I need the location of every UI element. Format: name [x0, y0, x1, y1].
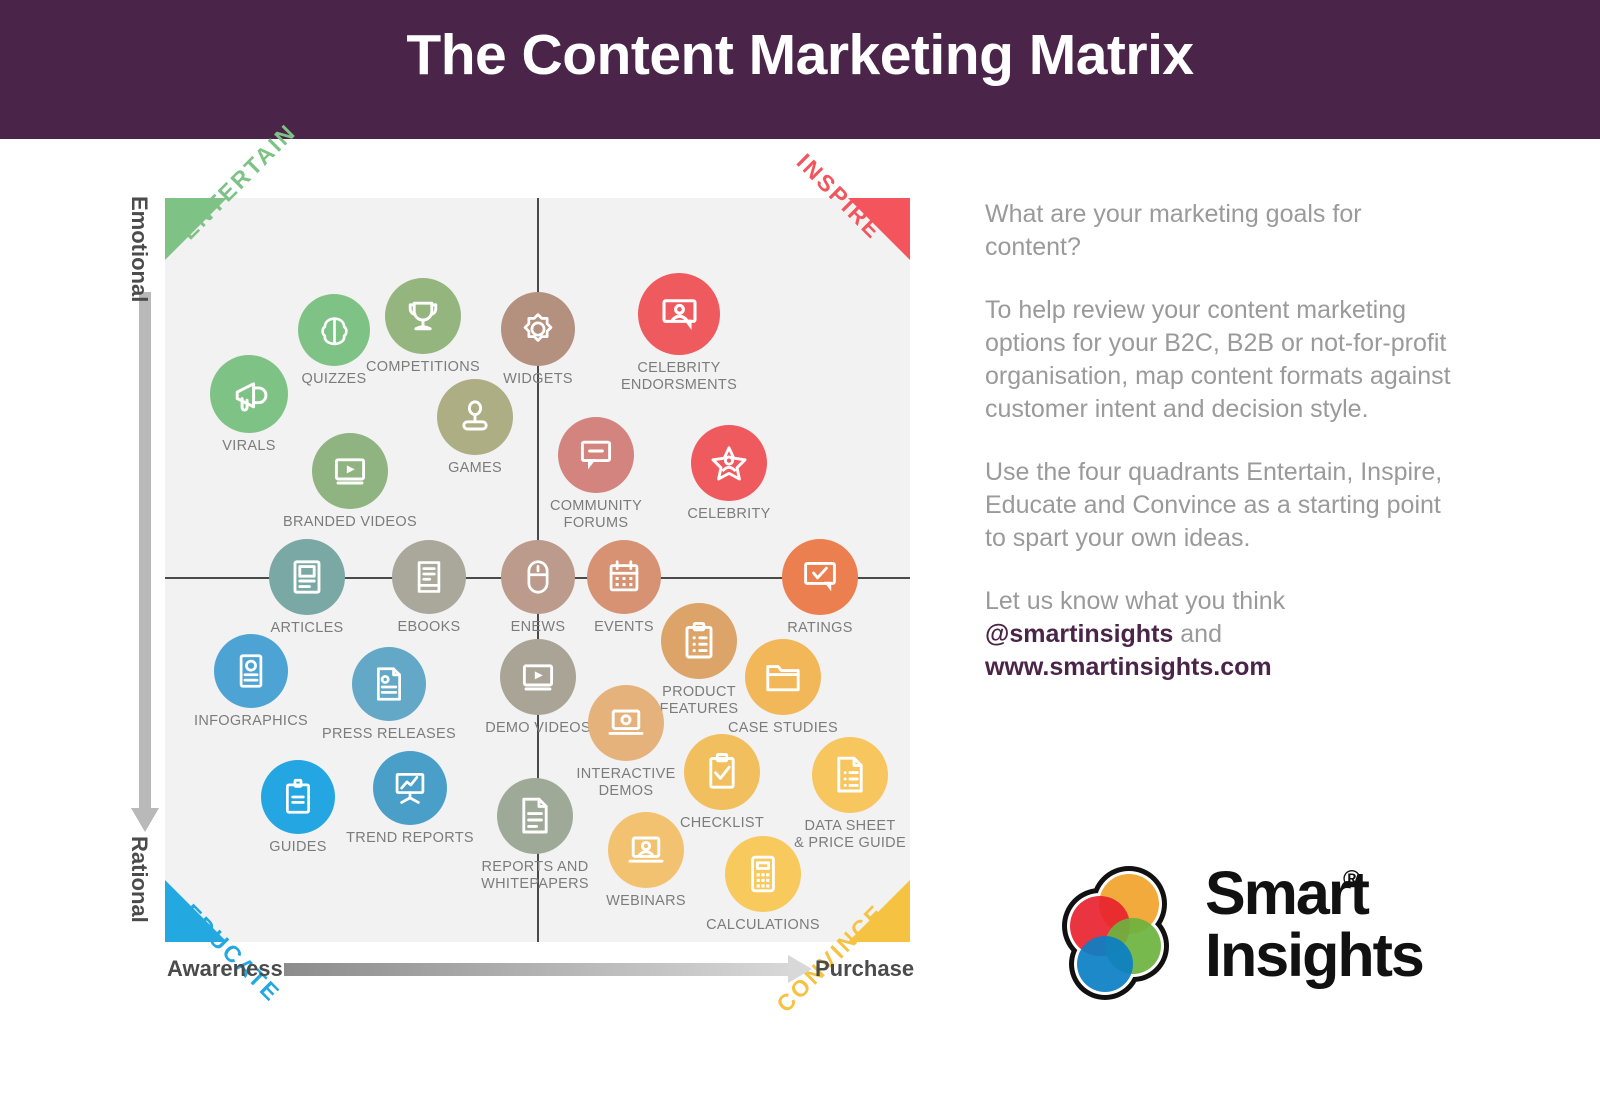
calendar-icon: [587, 540, 661, 614]
x-axis-arrow-head: [788, 955, 812, 983]
x-axis-label-right: Purchase: [815, 956, 914, 982]
webinar-icon: [608, 812, 684, 888]
check-chat-icon: [782, 539, 858, 615]
matrix-node-label: TREND REPORTS: [320, 830, 500, 847]
smart-insights-logo[interactable]: Smart Insights ®: [1055, 860, 1395, 1005]
y-axis-arrow-head: [131, 808, 159, 832]
book-icon: [392, 540, 466, 614]
x-axis-arrow-shaft: [284, 963, 792, 976]
folder-icon: [745, 639, 821, 715]
matrix-node-label: CELEBRITY: [639, 506, 819, 523]
video-play-icon: [500, 639, 576, 715]
website-link[interactable]: www.smartinsights.com: [985, 653, 1272, 681]
matrix-node-label: VIRALS: [159, 438, 339, 455]
infographic-icon: [214, 634, 288, 708]
description-panel: What are your marketing goals for conten…: [985, 198, 1455, 714]
mouse-icon: [501, 540, 575, 614]
x-axis-label-left: Awareness: [167, 956, 283, 982]
twitter-handle-link[interactable]: @smartinsights: [985, 620, 1173, 648]
panel-paragraph-quadrants: Use the four quadrants Entertain, Inspir…: [985, 456, 1455, 555]
page-title: The Content Marketing Matrix: [0, 22, 1600, 88]
article-icon: [269, 539, 345, 615]
check-clipboard-icon: [684, 734, 760, 810]
panel-paragraph-review: To help review your content marketing op…: [985, 294, 1455, 426]
video-play-icon: [312, 433, 388, 509]
matrix-plot: ENTERTAIN INSPIRE EDUCATE CONVINCE VIRAL…: [165, 198, 910, 942]
header-bar: The Content Marketing Matrix: [0, 0, 1600, 139]
matrix-node-label: GAMES: [385, 460, 565, 477]
calculator-icon: [725, 836, 801, 912]
quadrant-label-educate: EDUCATE: [177, 899, 286, 1008]
logo-wordmark: Smart Insights: [1205, 862, 1423, 986]
panel-paragraph-contact: Let us know what you think @smartinsight…: [985, 585, 1455, 684]
megaphone-icon: [210, 355, 288, 433]
person-chat-icon: [638, 273, 720, 355]
datasheet-icon: [812, 737, 888, 813]
contact-and: and: [1173, 620, 1222, 648]
clipboard-list-icon: [661, 603, 737, 679]
report-icon: [497, 778, 573, 854]
star-person-icon: [691, 425, 767, 501]
guide-icon: [261, 760, 335, 834]
y-axis-arrow-shaft: [139, 292, 151, 812]
contact-intro: Let us know what you think: [985, 587, 1285, 615]
trophy-icon: [385, 278, 461, 354]
y-axis-label-bottom: Rational: [126, 836, 152, 923]
matrix-node-label: WEBINARS: [556, 893, 736, 910]
matrix-node-label: RATINGS: [730, 620, 910, 637]
infographic-root: The Content Marketing Matrix ENTERTAIN I…: [0, 0, 1600, 1100]
laptop-icon: [588, 685, 664, 761]
quadrant-label-inspire: INSPIRE: [791, 149, 888, 246]
panel-paragraph-goals: What are your marketing goals for conten…: [985, 198, 1455, 264]
matrix-node-label: BRANDED VIDEOS: [260, 514, 440, 531]
press-doc-icon: [352, 647, 426, 721]
brain-icon: [298, 294, 370, 366]
registered-trademark-icon: ®: [1343, 866, 1361, 894]
matrix-node-label: CELEBRITY ENDORSMENTS: [589, 360, 769, 394]
logo-line-2: Insights: [1205, 921, 1423, 989]
gear-icon: [501, 292, 575, 366]
smart-insights-mark-icon: [1055, 860, 1195, 1000]
y-axis-label-top: Emotional: [126, 196, 152, 302]
chart-board-icon: [373, 751, 447, 825]
matrix-node-label: REPORTS AND WHITEPAPERS: [445, 859, 625, 893]
speech-bubble-icon: [558, 417, 634, 493]
joystick-icon: [437, 379, 513, 455]
matrix-node-label: CALCULATIONS: [673, 917, 853, 934]
